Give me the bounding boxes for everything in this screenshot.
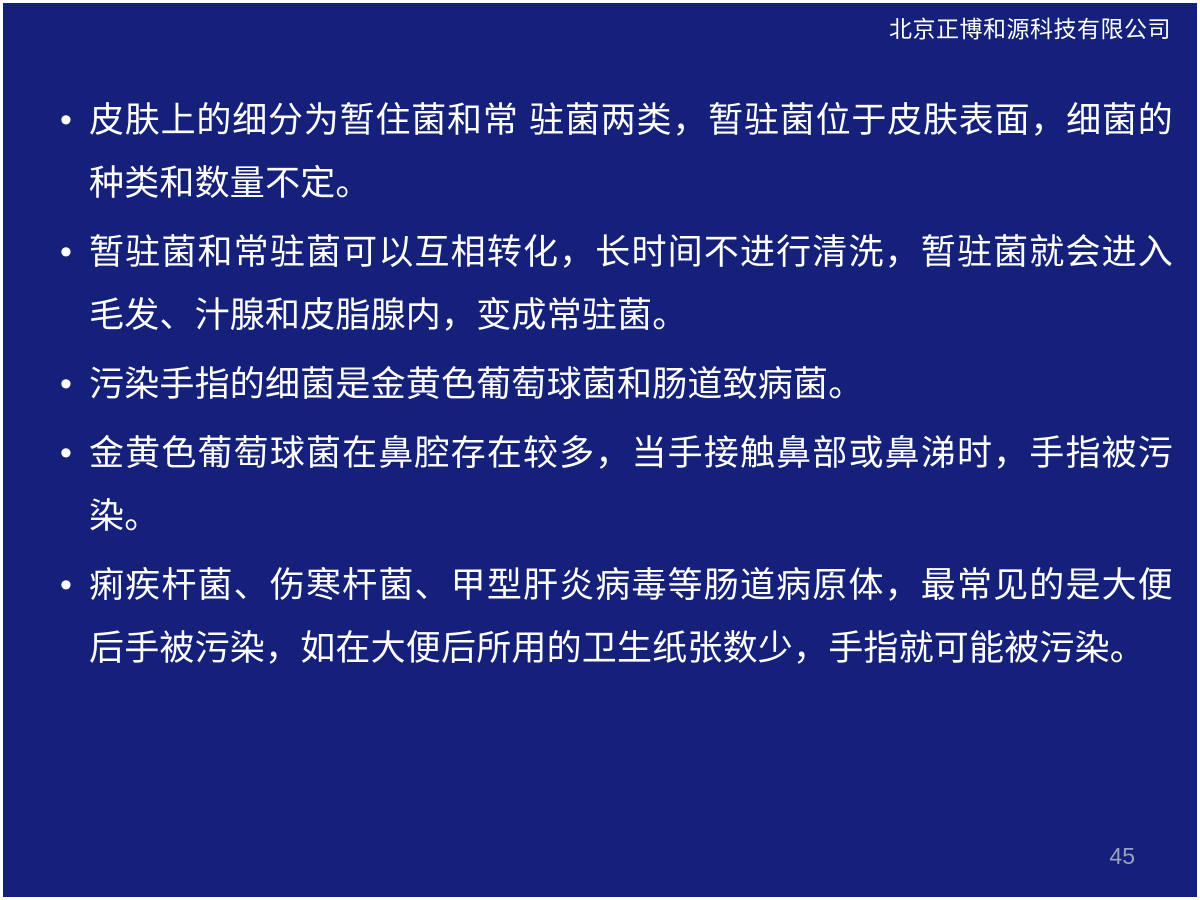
slide-footer: 45 (1109, 845, 1135, 869)
list-item-text: 暂驻菌和常驻菌可以互相转化，长时间不进行清洗，暂驻菌就会进入毛发、汁腺和皮脂腺内… (89, 221, 1173, 347)
list-item: • 痢疾杆菌、伤寒杆菌、甲型肝炎病毒等肠道病原体，最常见的是大便后手被污染，如在… (43, 554, 1173, 680)
bullet-point-icon: • (43, 353, 89, 416)
list-item-text: 皮肤上的细分为暂住菌和常 驻菌两类，暂驻菌位于皮肤表面，细菌的种类和数量不定。 (89, 89, 1173, 215)
slide-header: 北京正博和源科技有限公司 (3, 3, 1197, 55)
bullet-list: • 皮肤上的细分为暂住菌和常 驻菌两类，暂驻菌位于皮肤表面，细菌的种类和数量不定… (43, 89, 1173, 680)
slide-content-area: • 皮肤上的细分为暂住菌和常 驻菌两类，暂驻菌位于皮肤表面，细菌的种类和数量不定… (43, 89, 1173, 817)
list-item: • 暂驻菌和常驻菌可以互相转化，长时间不进行清洗，暂驻菌就会进入毛发、汁腺和皮脂… (43, 221, 1173, 347)
list-item-text: 痢疾杆菌、伤寒杆菌、甲型肝炎病毒等肠道病原体，最常见的是大便后手被污染，如在大便… (89, 554, 1173, 680)
list-item-text: 污染手指的细菌是金黄色葡萄球菌和肠道致病菌。 (89, 353, 1173, 416)
presentation-slide: 北京正博和源科技有限公司 • 皮肤上的细分为暂住菌和常 驻菌两类，暂驻菌位于皮肤… (0, 0, 1200, 900)
bullet-point-icon: • (43, 221, 89, 284)
list-item: • 污染手指的细菌是金黄色葡萄球菌和肠道致病菌。 (43, 353, 1173, 416)
page-number: 45 (1109, 843, 1135, 869)
list-item: • 金黄色葡萄球菌在鼻腔存在较多，当手接触鼻部或鼻涕时，手指被污染。 (43, 422, 1173, 548)
bullet-point-icon: • (43, 422, 89, 485)
list-item: • 皮肤上的细分为暂住菌和常 驻菌两类，暂驻菌位于皮肤表面，细菌的种类和数量不定… (43, 89, 1173, 215)
company-name: 北京正博和源科技有限公司 (889, 18, 1171, 41)
bullet-point-icon: • (43, 89, 89, 152)
bullet-point-icon: • (43, 554, 89, 617)
list-item-text: 金黄色葡萄球菌在鼻腔存在较多，当手接触鼻部或鼻涕时，手指被污染。 (89, 422, 1173, 548)
